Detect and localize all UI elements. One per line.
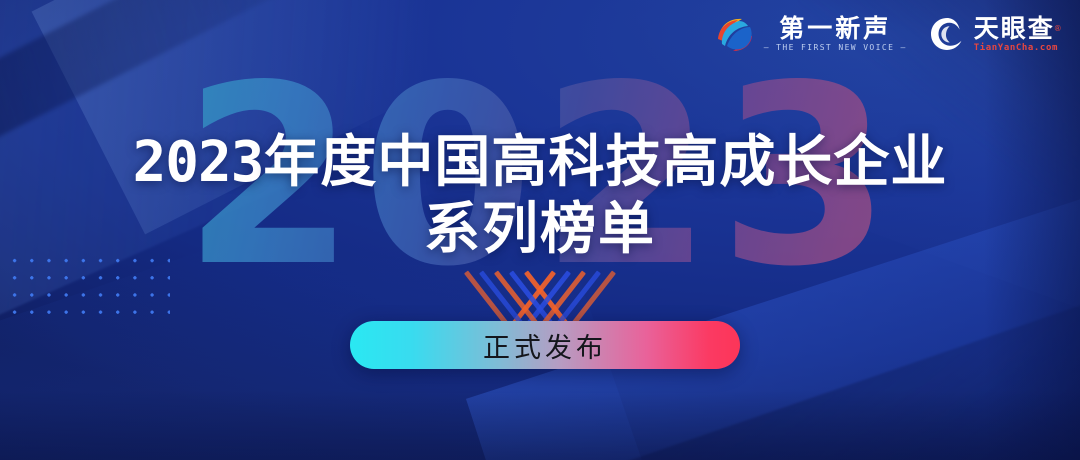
tyc-trademark: ® (1054, 15, 1064, 42)
fnv-tagline: — THE FIRST NEW VOICE — (764, 42, 907, 53)
logo-bar: 第一新声 — THE FIRST NEW VOICE — 天眼查® TianYa… (715, 14, 1058, 54)
headline-line-2: 系列榜单 (0, 198, 1080, 262)
logo-tianyancha[interactable]: 天眼查® TianYanCha.com (929, 15, 1058, 54)
logo-first-new-voice[interactable]: 第一新声 — THE FIRST NEW VOICE — (715, 14, 907, 54)
headline-line-1: 2023年度中国高科技高成长企业 (0, 134, 1080, 192)
fnv-name-cn: 第一新声 (779, 15, 891, 42)
promo-banner: 2023 2023年度中国高科技高成长企业 系列榜单 正式发布 (0, 0, 1080, 460)
fnv-ribbon-logo-icon (715, 14, 755, 54)
headline-line-1-rest: 年度中国高科技高成长企业 (263, 130, 947, 195)
fnv-wordmark: 第一新声 — THE FIRST NEW VOICE — (764, 15, 907, 53)
tyc-name-cn-text: 天眼查 (974, 14, 1055, 43)
tyc-domain: TianYanCha.com (974, 42, 1058, 54)
tyc-aperture-logo-icon (929, 16, 965, 52)
headline-block: 2023年度中国高科技高成长企业 系列榜单 (0, 134, 1080, 262)
release-cta-button[interactable]: 正式发布 (350, 321, 740, 369)
tyc-wordmark: 天眼查® TianYanCha.com (974, 15, 1058, 54)
tyc-name-cn: 天眼查® (974, 15, 1055, 42)
headline-year: 2023 (133, 130, 264, 195)
release-cta-label: 正式发布 (483, 326, 607, 365)
